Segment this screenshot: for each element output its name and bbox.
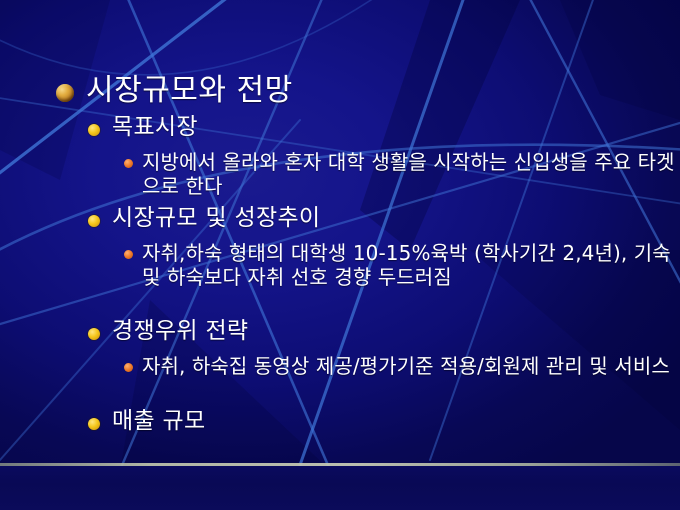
yellow-dot-bullet-icon [88,114,112,136]
bullet-item-level3: 자취, 하숙집 동영상 제공/평가기준 적용/회원제 관리 및 서비스 [124,354,676,378]
bullet-label-level2: 매출 규모 [112,408,205,434]
bullet-label-level2: 경쟁우위 전략 [112,318,248,344]
bullet-label-level3: 자취, 하숙집 동영상 제공/평가기준 적용/회원제 관리 및 서비스 [142,354,670,378]
orange-dot-bullet-icon [124,354,142,372]
page-title: 시장규모와 전망 [86,74,293,108]
bullet-item-level2: 경쟁우위 전략 [88,318,658,344]
bullet-label-level3: 지방에서 올라와 혼자 대학 생활을 시작하는 신입생을 주요 타겟으로 한다 [142,150,676,199]
horizontal-divider-line [0,463,680,466]
bullet-item-level2: 목표시장 [88,114,658,140]
bullet-label-level2: 시장규모 및 성장추이 [112,205,320,231]
yellow-dot-bullet-icon [88,318,112,340]
bullet-label-level3: 자취,하숙 형태의 대학생 10-15%육박 (학사기간 2,4년), 기숙및 … [142,241,676,290]
yellow-dot-bullet-icon [88,205,112,227]
bullet-item-level3: 자취,하숙 형태의 대학생 10-15%육박 (학사기간 2,4년), 기숙및 … [124,241,676,290]
presentation-slide: 시장규모와 전망 목표시장 지방에서 올라와 혼자 대학 생활을 시작하는 신입… [0,0,680,510]
yellow-dot-bullet-icon [88,408,112,430]
slide-content: 시장규모와 전망 목표시장 지방에서 올라와 혼자 대학 생활을 시작하는 신입… [0,0,680,460]
slide-title-row: 시장규모와 전망 [56,74,656,108]
bullet-item-level3: 지방에서 올라와 혼자 대학 생활을 시작하는 신입생을 주요 타겟으로 한다 [124,150,676,199]
orange-dot-bullet-icon [124,241,142,259]
orange-dot-bullet-icon [124,150,142,168]
bullet-item-level2: 매출 규모 [88,408,658,434]
bullet-label-level2: 목표시장 [112,114,198,140]
bullet-item-level2: 시장규모 및 성장추이 [88,205,658,231]
gold-sphere-bullet-icon [56,74,86,102]
